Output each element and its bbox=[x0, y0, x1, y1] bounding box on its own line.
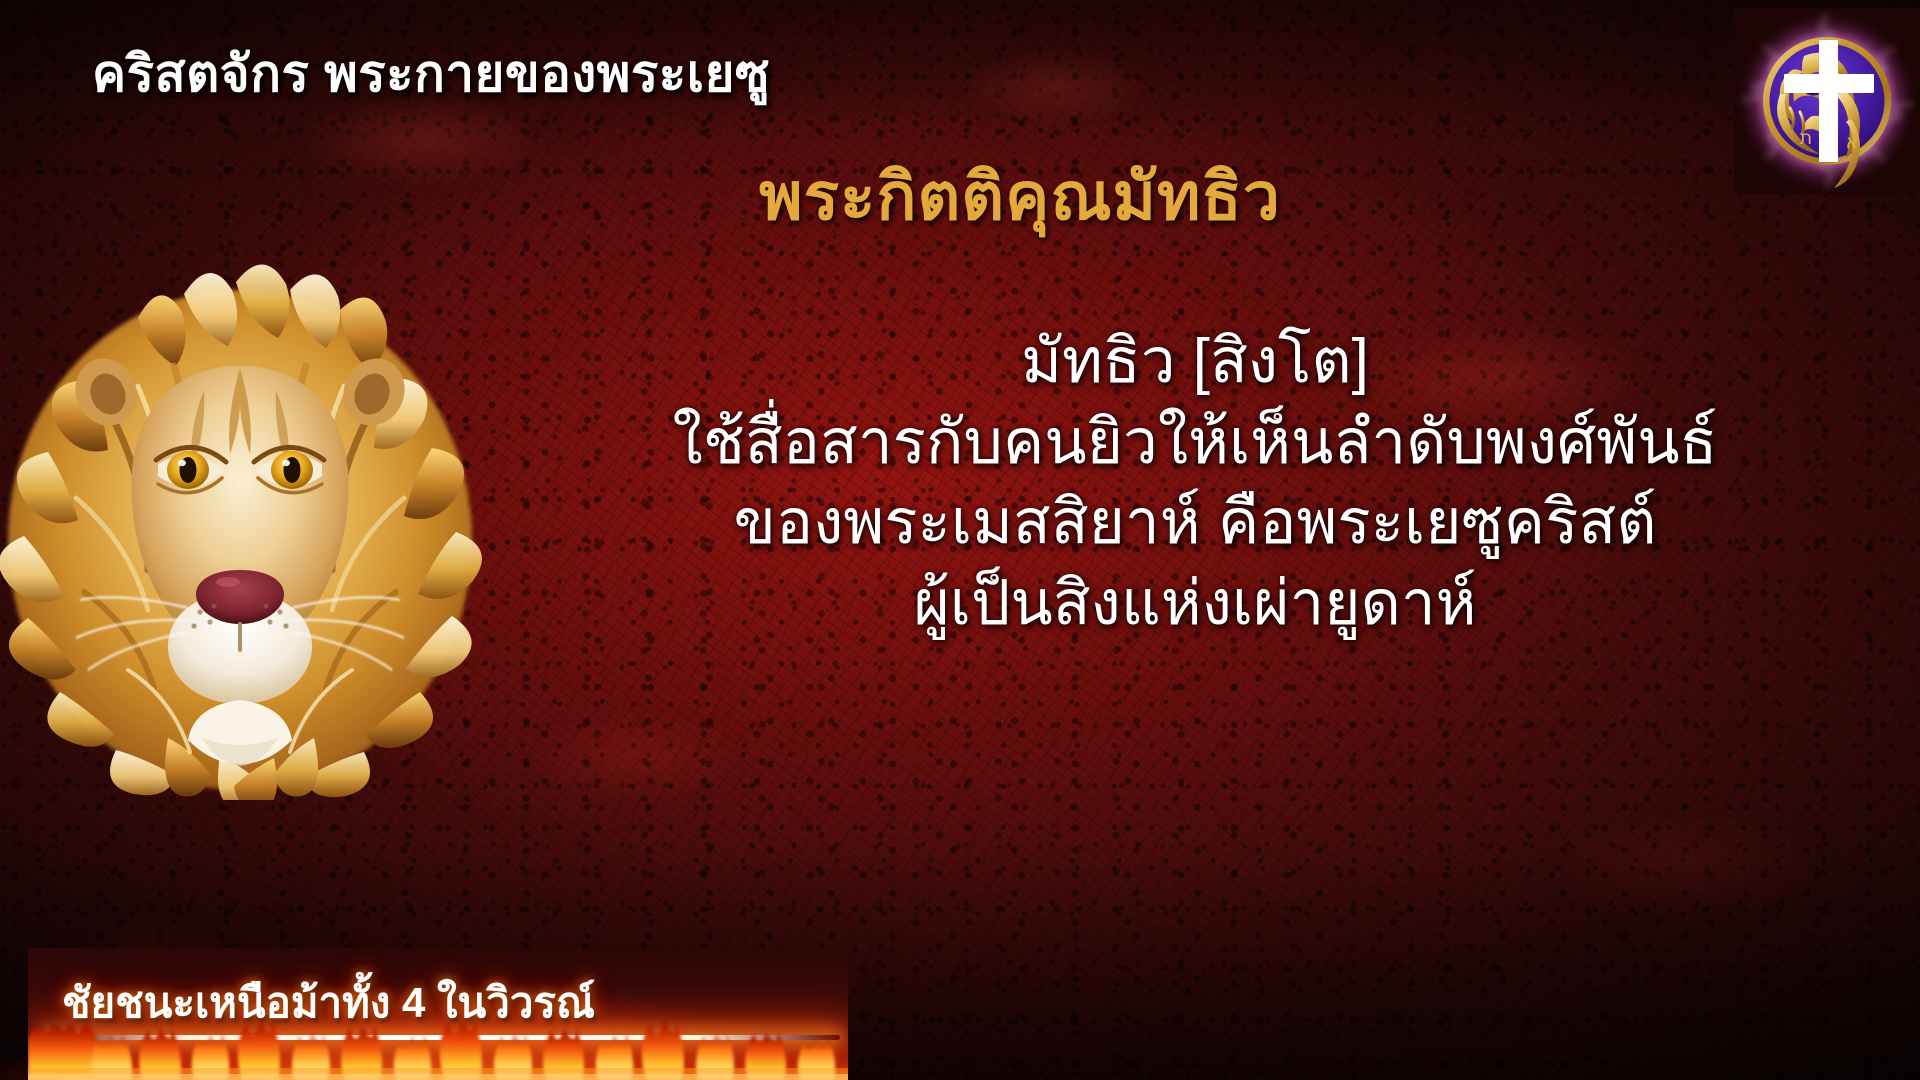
header-title: คริสตจักร พระกายของพระเยซู bbox=[92, 33, 770, 114]
lion-head-image bbox=[0, 240, 498, 800]
body-text-block: มัทธิว [สิงโต] ใช้สื่อสารกับคนยิวให้เห็น… bbox=[500, 322, 1890, 644]
banner-text: ชัยชนะเหนือม้าทั้ง 4 ในวิวรณ์ bbox=[62, 970, 595, 1036]
body-line-1: มัทธิว [สิงโต] bbox=[500, 322, 1890, 403]
slide-canvas: คริสตจักร พระกายของพระเยซู พระกิตติคุณมั… bbox=[0, 0, 1920, 1080]
body-line-3: ของพระเมสสิยาห์ คือพระเยซูคริสต์ bbox=[500, 483, 1890, 564]
bottom-banner: ชัยชนะเหนือม้าทั้ง 4 ในวิวรณ์ bbox=[28, 948, 848, 1080]
church-logo: ת א bbox=[1734, 8, 1920, 194]
hebrew-letter-aleph: א bbox=[1846, 131, 1859, 153]
body-line-2: ใช้สื่อสารกับคนยิวให้เห็นลำดับพงศ์พันธ์ bbox=[500, 403, 1890, 484]
hebrew-letter-tav: ת bbox=[1800, 127, 1813, 149]
body-line-4: ผู้เป็นสิงแห่งเผ่ายูดาห์ bbox=[500, 564, 1890, 645]
page-title: พระกิตติคุณมัทธิว bbox=[0, 144, 1920, 249]
